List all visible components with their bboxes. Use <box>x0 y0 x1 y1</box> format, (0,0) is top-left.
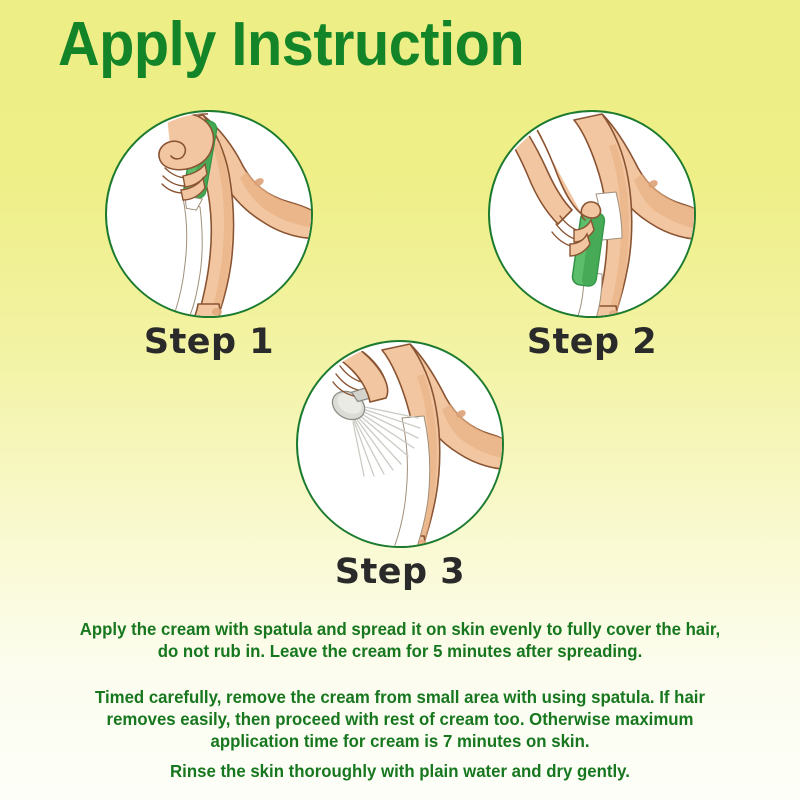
instruction-1-line-2: do not rub in. Leave the cream for 5 min… <box>16 640 784 662</box>
step-2-label: Step 2 <box>488 322 696 362</box>
step-1: Step 1 <box>105 110 313 318</box>
instruction-3-line-1: Rinse the skin thoroughly with plain wat… <box>16 760 784 782</box>
instruction-2-line-3: application time for cream is 7 minutes … <box>16 730 784 752</box>
step-3: Step 3 <box>296 340 504 548</box>
instruction-paragraph-3: Rinse the skin thoroughly with plain wat… <box>16 760 784 782</box>
rinse-with-water-illustration-icon <box>298 342 504 548</box>
instruction-poster: Apply Instruction <box>0 0 800 800</box>
apply-cream-illustration-icon <box>107 112 313 318</box>
instruction-1-line-1: Apply the cream with spatula and spread … <box>16 618 784 640</box>
step-3-illustration-circle <box>296 340 504 548</box>
step-1-label: Step 1 <box>105 322 313 362</box>
instruction-paragraph-2: Timed carefully, remove the cream from s… <box>16 686 784 752</box>
step-1-illustration-circle <box>105 110 313 318</box>
instruction-paragraph-1: Apply the cream with spatula and spread … <box>16 618 784 662</box>
instruction-2-line-2: removes easily, then proceed with rest o… <box>16 708 784 730</box>
remove-cream-illustration-icon <box>490 112 696 318</box>
step-2-illustration-circle <box>488 110 696 318</box>
page-title: Apply Instruction <box>58 14 524 76</box>
step-3-label: Step 3 <box>296 552 504 592</box>
instruction-2-line-1: Timed carefully, remove the cream from s… <box>16 686 784 708</box>
step-2: Step 2 <box>488 110 696 318</box>
